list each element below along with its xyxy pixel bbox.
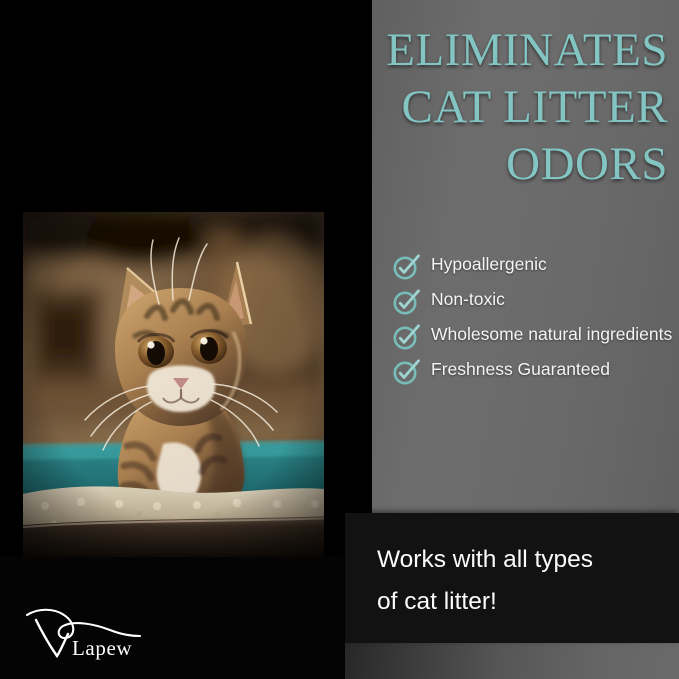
benefit-item-hypoallergenic: Hypoallergenic [392,252,674,281]
works-with-callout: Works with all types of cat litter! [345,513,679,643]
benefit-item-wholesome-natural-ingredients: Wholesome natural ingredients [392,322,674,351]
benefits-list: Hypoallergenic Non-toxic Wholesome natur… [392,252,674,392]
headline-line-2: CAT LITTER [300,79,668,136]
benefit-item-non-toxic: Non-toxic [392,287,674,316]
circle-check-icon [392,288,420,316]
benefit-item-freshness-guaranteed: Freshness Guaranteed [392,357,674,386]
product-ad-image: ELIMINATES CAT LITTER ODORS [0,0,679,679]
circle-check-icon [392,323,420,351]
benefit-label: Hypoallergenic [431,252,547,277]
benefit-label: Wholesome natural ingredients [431,322,672,347]
callout-text: Works with all types of cat litter! [377,539,667,623]
kitten-photo [23,212,324,557]
circle-check-icon [392,253,420,281]
kitten-photo-artwork [23,212,324,557]
circle-check-icon [392,358,420,386]
headline-line-1: ELIMINATES [300,22,668,79]
callout-line-1: Works with all types [377,539,667,581]
callout-line-2: of cat litter! [377,581,667,623]
brand-wordmark: Lapew [72,636,132,661]
headline: ELIMINATES CAT LITTER ODORS [300,22,668,193]
benefit-label: Freshness Guaranteed [431,357,610,382]
headline-line-3: ODORS [300,136,668,193]
benefit-label: Non-toxic [431,287,505,312]
brand-logo: Lapew [24,606,184,668]
